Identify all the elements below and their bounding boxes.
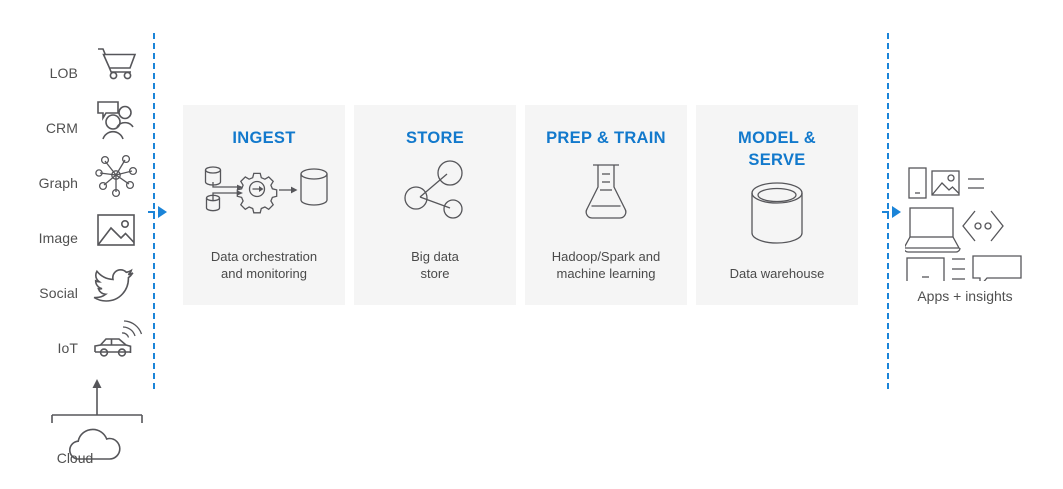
right-rail-arrow-icon — [892, 206, 901, 218]
stage-caption-line1: Big data — [411, 248, 459, 266]
stage-caption-line1: Data orchestration — [211, 248, 317, 266]
stage-caption-line1: Hadoop/Spark and — [552, 248, 660, 266]
left-rail-arrow-icon — [158, 206, 167, 218]
text-lines-icon — [952, 259, 965, 279]
text-lines-icon — [968, 179, 984, 188]
stage-title: PREP & TRAIN — [546, 127, 666, 149]
stage-title: STORE — [406, 127, 464, 149]
flask-icon — [578, 159, 634, 221]
code-brackets-icon — [963, 211, 1003, 241]
phone-icon — [909, 168, 926, 198]
people-chat-icon — [92, 96, 140, 144]
stage-caption-line2: machine learning — [552, 265, 660, 283]
source-label: Social — [0, 285, 78, 301]
shopping-cart-icon — [92, 41, 140, 89]
source-label: Image — [0, 230, 78, 246]
source-label: IoT — [0, 340, 78, 356]
left-rail-arrow-stem — [148, 211, 155, 213]
picture-icon — [932, 171, 959, 195]
source-row-crm: CRM — [0, 100, 150, 155]
source-row-social: Social — [0, 265, 150, 320]
screen-icon — [907, 258, 944, 281]
data-sources-column: LOB CRM — [0, 45, 150, 375]
source-row-lob: LOB — [0, 45, 150, 100]
stage-caption: Big data store — [411, 248, 459, 283]
connected-car-icon — [92, 316, 140, 364]
source-row-graph: Graph — [0, 155, 150, 210]
network-graph-icon — [92, 151, 140, 199]
apps-insights-group — [905, 166, 1025, 281]
bird-icon — [92, 261, 140, 309]
stage-title-line2: SERVE — [738, 149, 816, 171]
diagram-canvas: LOB CRM — [0, 0, 1063, 489]
stage-panel-ingest[interactable]: INGEST — [183, 105, 345, 305]
stage-caption-line1: Data warehouse — [730, 265, 825, 283]
stage-panel-store[interactable]: STORE Big data store — [354, 105, 516, 305]
stage-caption-line2: and monitoring — [211, 265, 317, 283]
cloud-connector-arrow — [52, 379, 142, 423]
data-orchestration-icon — [199, 159, 329, 221]
source-label: CRM — [0, 120, 78, 136]
apps-insights-label: Apps + insights — [860, 288, 1063, 304]
stage-title: INGEST — [232, 127, 295, 149]
cloud-label: Cloud — [0, 450, 150, 466]
data-warehouse-cylinder-icon — [745, 182, 809, 244]
stage-caption: Data orchestration and monitoring — [211, 248, 317, 283]
big-data-store-icon — [400, 159, 470, 221]
stage-panel-model-serve[interactable]: MODEL & SERVE Data warehouse — [696, 105, 858, 305]
stage-title-line1: MODEL & — [738, 127, 816, 149]
stage-caption: Hadoop/Spark and machine learning — [552, 248, 660, 283]
picture-icon — [92, 206, 140, 254]
pipeline-stages: INGEST — [183, 105, 858, 305]
stage-caption-line2: store — [411, 265, 459, 283]
source-row-iot: IoT — [0, 320, 150, 375]
laptop-icon — [905, 208, 960, 252]
source-label: Graph — [0, 175, 78, 191]
stage-title: MODEL & SERVE — [738, 127, 816, 172]
source-row-image: Image — [0, 210, 150, 265]
stage-caption: Data warehouse — [730, 265, 825, 283]
stage-panel-prep-train[interactable]: PREP & TRAIN Hadoop/Spark and machine le… — [525, 105, 687, 305]
source-label: LOB — [0, 65, 78, 81]
right-rail-arrow-stem — [882, 211, 889, 213]
speech-bubble-icon — [973, 256, 1021, 281]
